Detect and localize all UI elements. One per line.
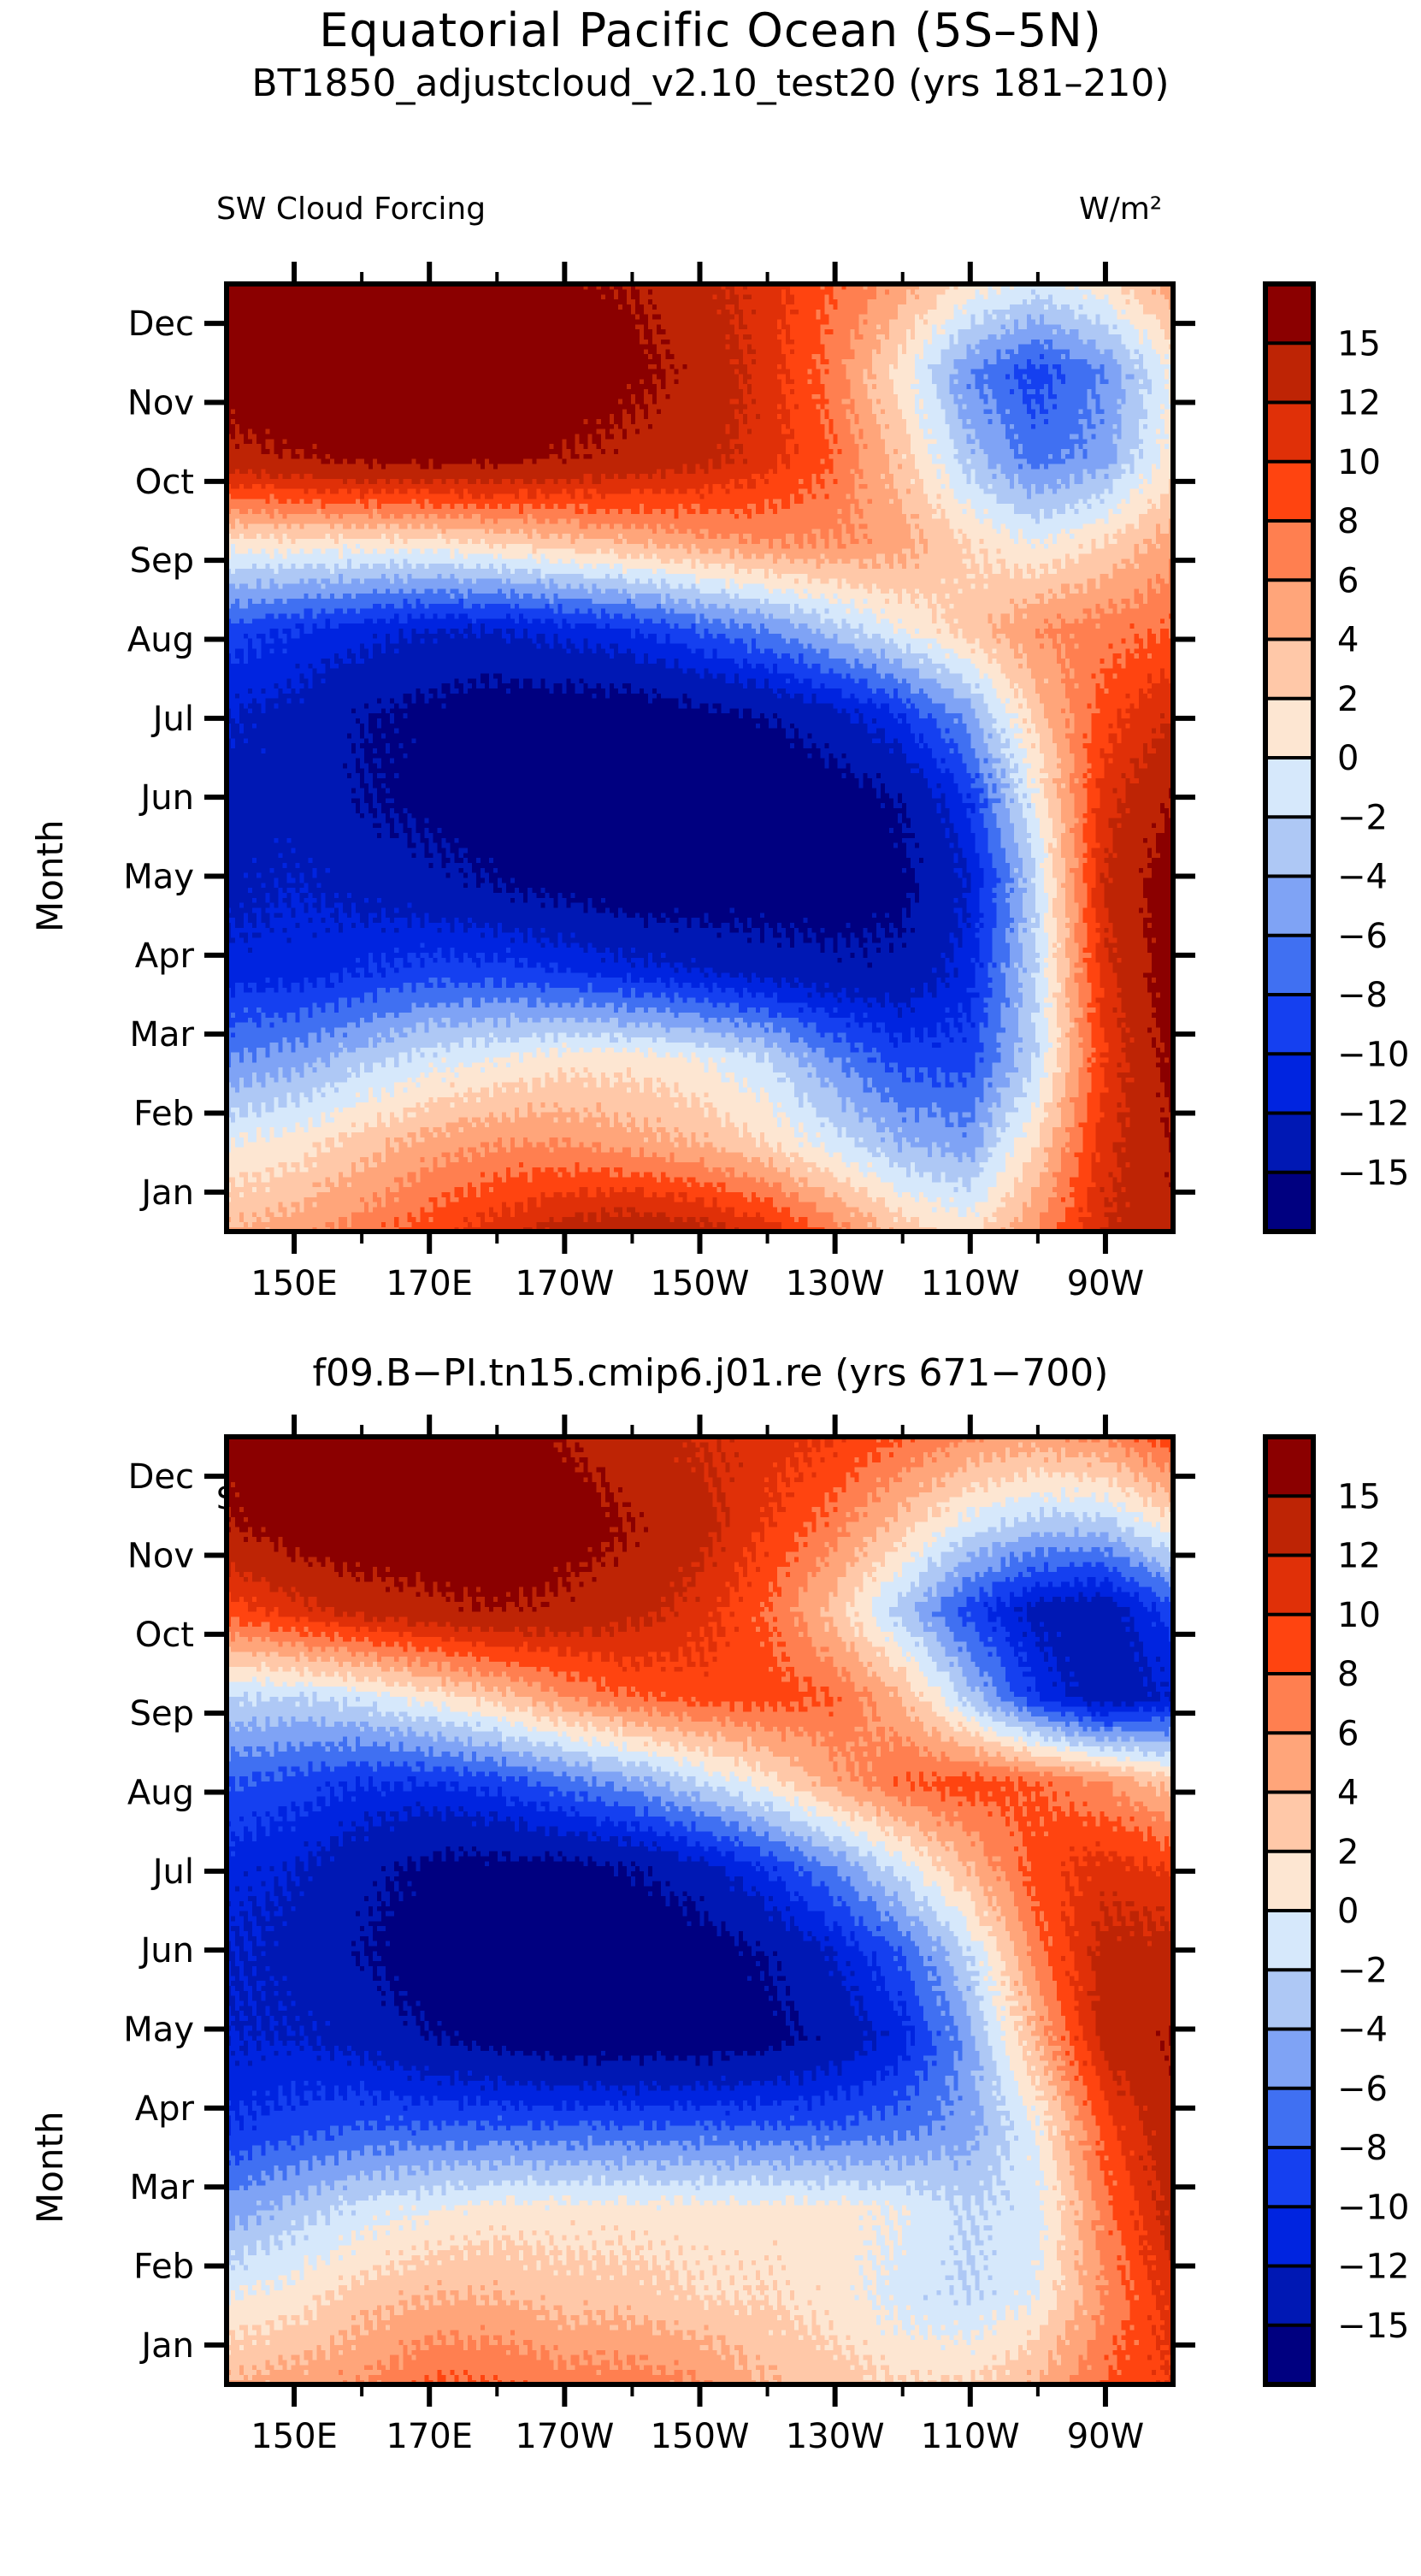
y-tick-label: Jan bbox=[139, 1173, 194, 1213]
y-tick-label: Jan bbox=[139, 2326, 194, 2366]
x-tick-label: 170E bbox=[386, 1264, 473, 1303]
y-tick-label: Oct bbox=[135, 463, 194, 502]
y-tick-label: Sep bbox=[130, 541, 194, 581]
colorbar bbox=[1265, 1437, 1313, 2385]
colorbar-cell bbox=[1265, 758, 1313, 818]
x-tick-label: 170E bbox=[386, 2417, 473, 2456]
colorbar-cell bbox=[1265, 580, 1313, 640]
colorbar-tick-labels: 15121086420−2−4−6−8−10−12−15 bbox=[1337, 1477, 1409, 2346]
x-tick-label: 110W bbox=[921, 1264, 1020, 1303]
y-tick-label: Feb bbox=[133, 1095, 194, 1134]
x-tick-label: 90W bbox=[1067, 1264, 1144, 1303]
colorbar-cell bbox=[1265, 1793, 1313, 1852]
colorbar-tick-label: 2 bbox=[1337, 1833, 1359, 1872]
colorbar-cell bbox=[1265, 640, 1313, 700]
y-tick-label: Feb bbox=[133, 2248, 194, 2287]
colorbar-tick-label: 0 bbox=[1337, 739, 1359, 778]
y-tick-label: Jul bbox=[150, 700, 194, 739]
colorbar-cell bbox=[1265, 1173, 1313, 1232]
y-tick-label: Jun bbox=[139, 778, 195, 818]
colorbar-tick-label: 6 bbox=[1337, 561, 1359, 600]
x-tick-label: 90W bbox=[1067, 2417, 1144, 2456]
colorbar-cell bbox=[1265, 403, 1313, 463]
x-tick-label: 150E bbox=[251, 2417, 338, 2456]
colorbar-cell bbox=[1265, 2266, 1313, 2326]
y-tick-label: Mar bbox=[130, 1015, 195, 1055]
colorbar-tick-label: −2 bbox=[1337, 798, 1388, 837]
colorbar-cell bbox=[1265, 1970, 1313, 2029]
x-tick-label: 130W bbox=[786, 2417, 885, 2456]
colorbar-cell bbox=[1265, 1615, 1313, 1675]
colorbar-tick-label: −12 bbox=[1337, 1095, 1409, 1134]
panel-1-plot: 150E170E170W150W130W110W90WJanFebMarAprM… bbox=[0, 0, 1421, 1334]
panel-2-plot: 150E170E170W150W130W110W90WJanFebMarAprM… bbox=[0, 1326, 1421, 2576]
colorbar-cell bbox=[1265, 1911, 1313, 1970]
colorbar-tick-label: −8 bbox=[1337, 976, 1388, 1015]
colorbar-cell bbox=[1265, 1556, 1313, 1616]
colorbar-tick-label: −15 bbox=[1337, 1154, 1409, 1193]
colorbar-tick-label: −8 bbox=[1337, 2129, 1388, 2168]
x-tick-label: 170W bbox=[515, 1264, 614, 1303]
y-tick-label: Jul bbox=[150, 1852, 194, 1892]
colorbar-tick-label: −4 bbox=[1337, 858, 1388, 897]
y-tick-label: Nov bbox=[127, 1537, 194, 1576]
colorbar-tick-label: 10 bbox=[1337, 443, 1381, 482]
colorbar bbox=[1265, 284, 1313, 1232]
y-tick-label: Sep bbox=[130, 1694, 194, 1734]
colorbar-tick-label: −12 bbox=[1337, 2248, 1409, 2287]
y-tick-label: Aug bbox=[127, 1774, 194, 1813]
colorbar-cell bbox=[1265, 2029, 1313, 2089]
colorbar-tick-label: 8 bbox=[1337, 502, 1359, 541]
colorbar-tick-label: 15 bbox=[1337, 1477, 1381, 1516]
x-tick-label: 150W bbox=[651, 1264, 750, 1303]
colorbar-cell bbox=[1265, 1733, 1313, 1793]
y-tick-label: Oct bbox=[135, 1616, 194, 1655]
y-tick-label: Jun bbox=[139, 1931, 195, 1970]
colorbar-cell bbox=[1265, 1852, 1313, 1911]
colorbar-tick-label: 12 bbox=[1337, 384, 1381, 423]
x-axis-tick-labels: 150E170E170W150W130W110W90W bbox=[251, 2417, 1144, 2456]
colorbar-tick-label: −4 bbox=[1337, 2011, 1388, 2050]
colorbar-cell bbox=[1265, 1674, 1313, 1734]
colorbar-cell bbox=[1265, 1496, 1313, 1556]
colorbar-cell bbox=[1265, 2325, 1313, 2385]
colorbar-cell bbox=[1265, 521, 1313, 581]
y-axis-tick-labels: JanFebMarAprMayJunJulAugSepOctNovDec bbox=[123, 304, 194, 1213]
colorbar-cell bbox=[1265, 817, 1313, 877]
colorbar-tick-label: 2 bbox=[1337, 680, 1359, 719]
x-tick-label: 150E bbox=[251, 1264, 338, 1303]
colorbar-tick-label: 12 bbox=[1337, 1537, 1381, 1576]
contour-fill bbox=[227, 284, 1174, 1232]
y-tick-label: Mar bbox=[130, 2168, 195, 2207]
colorbar-cell bbox=[1265, 995, 1313, 1055]
colorbar-tick-label: 8 bbox=[1337, 1655, 1359, 1694]
colorbar-tick-label: −10 bbox=[1337, 2188, 1409, 2227]
colorbar-cell bbox=[1265, 343, 1313, 403]
contour-fill bbox=[227, 1437, 1174, 2385]
y-tick-label: Nov bbox=[127, 384, 194, 423]
colorbar-tick-label: 10 bbox=[1337, 1596, 1381, 1635]
colorbar-cell bbox=[1265, 2089, 1313, 2148]
y-tick-label: Aug bbox=[127, 621, 194, 660]
colorbar-tick-label: 4 bbox=[1337, 621, 1359, 660]
x-axis-tick-labels: 150E170E170W150W130W110W90W bbox=[251, 1264, 1144, 1303]
x-tick-label: 150W bbox=[651, 2417, 750, 2456]
colorbar-cell bbox=[1265, 1054, 1313, 1114]
x-tick-label: 130W bbox=[786, 1264, 885, 1303]
colorbar-cell bbox=[1265, 462, 1313, 522]
y-axis-tick-labels: JanFebMarAprMayJunJulAugSepOctNovDec bbox=[123, 1457, 194, 2366]
colorbar-cell bbox=[1265, 877, 1313, 936]
colorbar-tick-label: 0 bbox=[1337, 1892, 1359, 1931]
colorbar-tick-label: −2 bbox=[1337, 1951, 1388, 1990]
y-tick-label: May bbox=[123, 858, 194, 897]
colorbar-cell bbox=[1265, 1114, 1313, 1173]
colorbar-tick-label: −15 bbox=[1337, 2307, 1409, 2346]
colorbar-tick-labels: 15121086420−2−4−6−8−10−12−15 bbox=[1337, 324, 1409, 1193]
colorbar-tick-label: −6 bbox=[1337, 917, 1388, 956]
y-tick-label: Apr bbox=[135, 936, 195, 976]
colorbar-tick-label: 15 bbox=[1337, 324, 1381, 363]
figure-root: Equatorial Pacific Ocean (5S–5N) BT1850_… bbox=[0, 0, 1421, 2576]
y-tick-label: Dec bbox=[128, 304, 194, 344]
x-tick-label: 170W bbox=[515, 2417, 614, 2456]
colorbar-cell bbox=[1265, 284, 1313, 344]
colorbar-tick-label: 6 bbox=[1337, 1714, 1359, 1753]
colorbar-cell bbox=[1265, 1437, 1313, 1497]
y-tick-label: Dec bbox=[128, 1457, 194, 1497]
colorbar-tick-label: 4 bbox=[1337, 1774, 1359, 1813]
y-tick-label: May bbox=[123, 2011, 194, 2050]
colorbar-tick-label: −6 bbox=[1337, 2070, 1388, 2109]
colorbar-cell bbox=[1265, 2148, 1313, 2207]
colorbar-cell bbox=[1265, 936, 1313, 996]
colorbar-tick-label: −10 bbox=[1337, 1035, 1409, 1074]
colorbar-cell bbox=[1265, 699, 1313, 759]
x-tick-label: 110W bbox=[921, 2417, 1020, 2456]
colorbar-cell bbox=[1265, 2207, 1313, 2266]
y-tick-label: Apr bbox=[135, 2089, 195, 2129]
